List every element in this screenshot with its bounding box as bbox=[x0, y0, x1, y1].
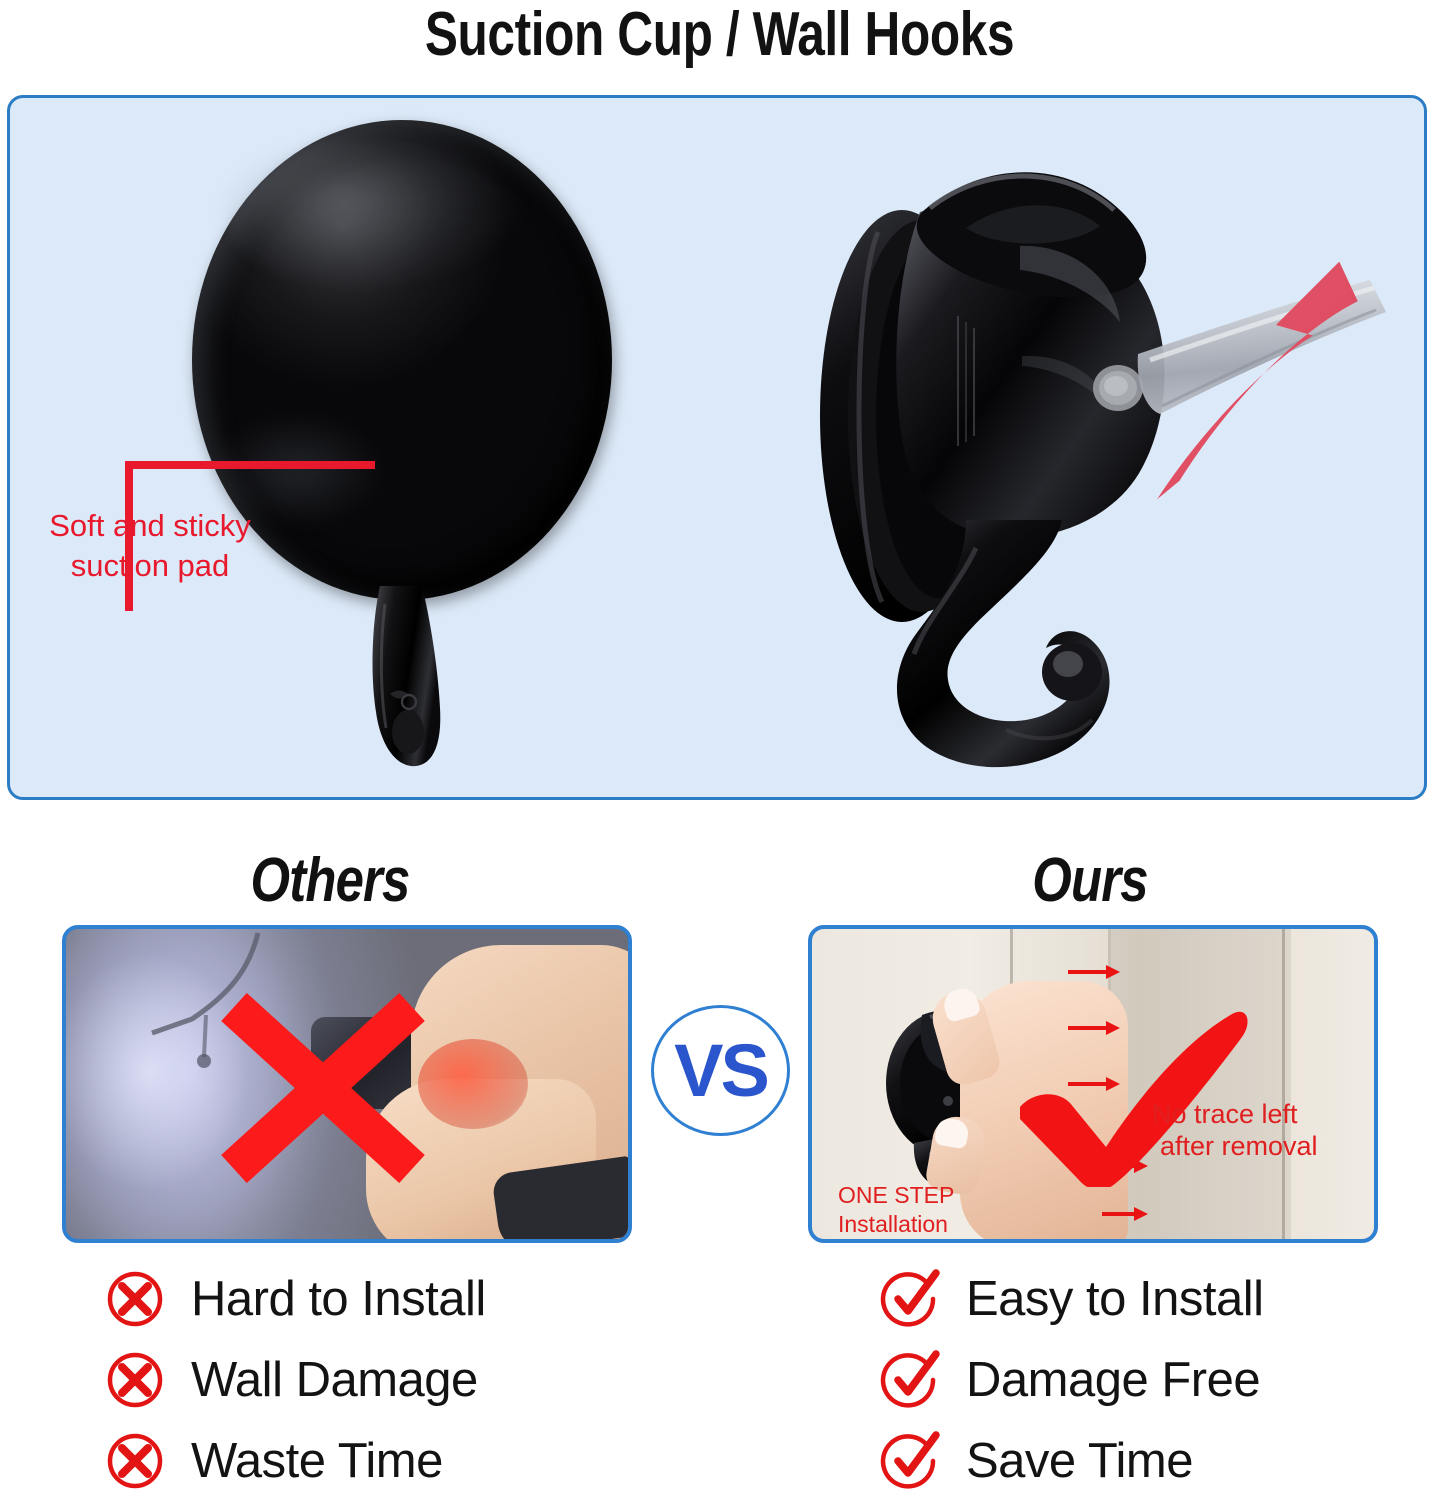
list-item-label: Easy to Install bbox=[966, 1271, 1264, 1327]
list-item: Wall Damage bbox=[105, 1339, 745, 1420]
circle-x-icon bbox=[105, 1350, 165, 1410]
list-item: Damage Free bbox=[880, 1339, 1439, 1420]
list-item: Easy to Install bbox=[880, 1258, 1439, 1339]
annotation-line-2: suction pad bbox=[20, 546, 280, 586]
list-item-label: Wall Damage bbox=[191, 1352, 478, 1408]
circle-check-icon bbox=[880, 1431, 940, 1491]
red-x-overlay-icon bbox=[218, 993, 428, 1183]
one-step-line-2: Installation bbox=[838, 1210, 954, 1239]
ours-photo: No trace left after removal ONE STEP Ins… bbox=[808, 925, 1378, 1243]
list-item-label: Save Time bbox=[966, 1433, 1193, 1489]
list-item: Hard to Install bbox=[105, 1258, 745, 1339]
page-title: Suction Cup / Wall Hooks bbox=[144, 0, 1295, 70]
suction-pad-hook-icon bbox=[368, 582, 446, 770]
others-heading: Others bbox=[59, 845, 600, 916]
suction-pad-front-view bbox=[182, 110, 632, 790]
list-item: Waste Time bbox=[105, 1420, 745, 1501]
suction-hook-side-view bbox=[770, 116, 1410, 792]
others-feature-list: Hard to Install Wall Damage Waste Time bbox=[105, 1258, 745, 1501]
no-trace-line-1: No trace left bbox=[1152, 1099, 1318, 1131]
circle-check-icon bbox=[880, 1350, 940, 1410]
circle-check-icon bbox=[880, 1269, 940, 1329]
vs-badge: VS bbox=[651, 1005, 790, 1136]
list-item-label: Hard to Install bbox=[191, 1271, 486, 1327]
list-item-label: Waste Time bbox=[191, 1433, 443, 1489]
annotation-line-1: Soft and sticky bbox=[20, 506, 280, 546]
list-item-label: Damage Free bbox=[966, 1352, 1260, 1408]
no-trace-note: No trace left after removal bbox=[1152, 1099, 1318, 1162]
right-arrow-icon bbox=[1102, 1205, 1148, 1223]
ours-heading: Ours bbox=[819, 845, 1360, 916]
suction-pad-annotation: Soft and sticky suction pad bbox=[20, 506, 280, 587]
one-step-note: ONE STEP Installation bbox=[838, 1181, 954, 1239]
vs-label: VS bbox=[674, 1028, 767, 1113]
list-item: Save Time bbox=[880, 1420, 1439, 1501]
right-arrow-icon bbox=[1068, 963, 1120, 981]
circle-x-icon bbox=[105, 1269, 165, 1329]
ours-feature-list: Easy to Install Damage Free Save Time bbox=[880, 1258, 1439, 1501]
one-step-line-1: ONE STEP bbox=[838, 1181, 954, 1210]
hero-product-panel: Soft and sticky suction pad bbox=[7, 95, 1427, 800]
others-photo bbox=[62, 925, 632, 1243]
strain-glow bbox=[418, 1039, 528, 1129]
circle-x-icon bbox=[105, 1431, 165, 1491]
no-trace-line-2: after removal bbox=[1152, 1131, 1318, 1163]
